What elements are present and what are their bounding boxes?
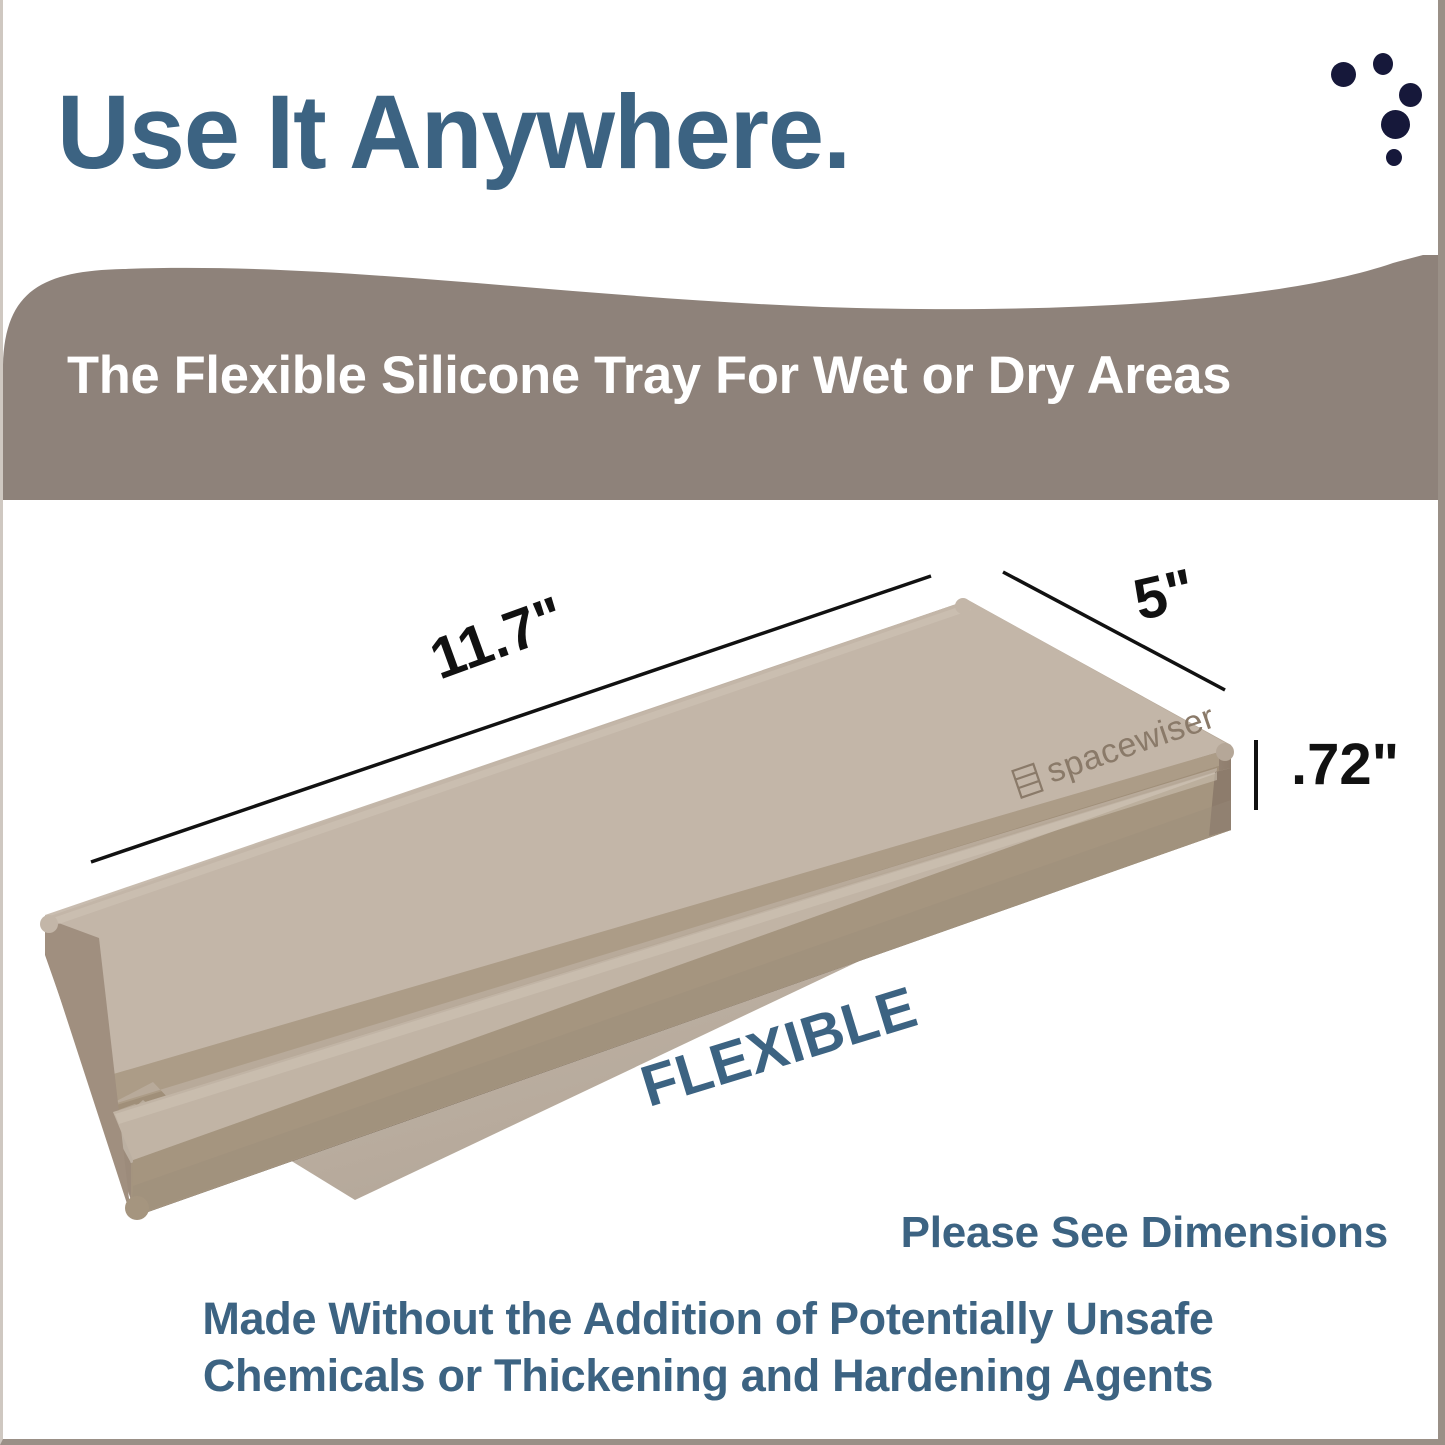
product-illustration <box>3 500 1445 1260</box>
page-title: Use It Anywhere. <box>57 78 850 188</box>
decor-dot-icon <box>1399 83 1422 107</box>
decor-dot-icon <box>1331 62 1356 87</box>
dimension-height-label: .72" <box>1291 731 1399 798</box>
disclaimer-text: Made Without the Addition of Potentially… <box>3 1290 1413 1404</box>
disclaimer-line-2: Chemicals or Thickening and Hardening Ag… <box>3 1347 1413 1404</box>
decor-dot-icon <box>1373 53 1393 75</box>
decor-dot-icon <box>1381 110 1410 139</box>
see-dimensions-text: Please See Dimensions <box>3 1208 1388 1258</box>
tray-drawing <box>3 500 1445 1260</box>
decor-dot-icon <box>1386 149 1402 166</box>
infographic-canvas: Use It Anywhere. The Flexible Silicone T… <box>0 0 1445 1445</box>
disclaimer-line-1: Made Without the Addition of Potentially… <box>3 1290 1413 1347</box>
banner-subtitle: The Flexible Silicone Tray For Wet or Dr… <box>67 345 1231 406</box>
